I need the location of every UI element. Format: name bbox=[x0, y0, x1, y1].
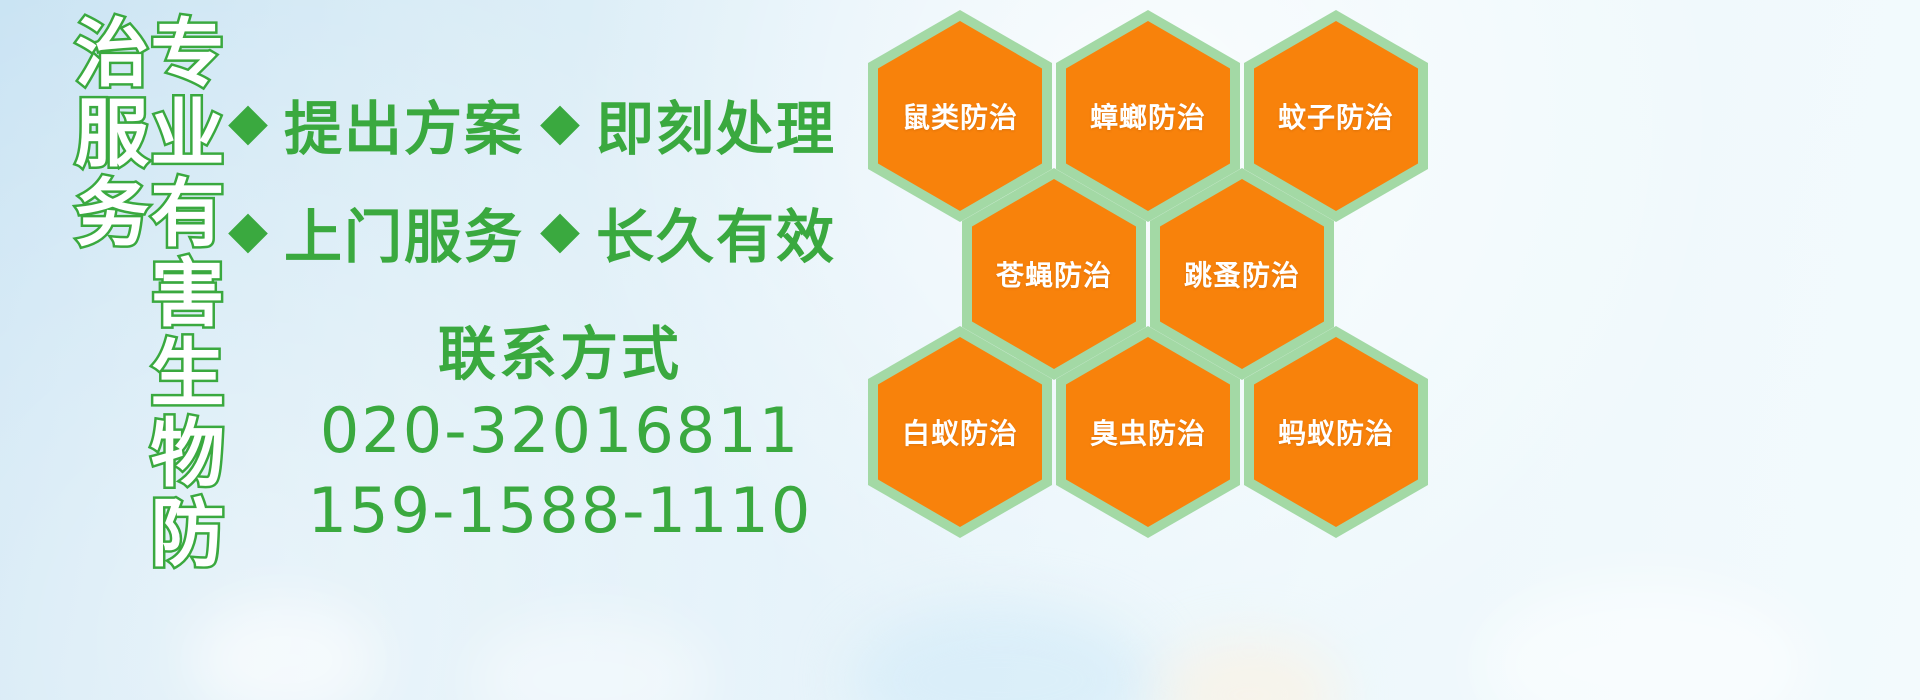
feature-item: ◆ 长久有效 bbox=[540, 190, 836, 274]
background-blob bbox=[1480, 580, 1810, 700]
feature-label: 上门服务 bbox=[284, 190, 524, 274]
background-blob bbox=[190, 600, 380, 700]
feature-item: ◆ 上门服务 bbox=[228, 190, 540, 274]
diamond-bullet-icon: ◆ bbox=[228, 96, 268, 148]
feature-row: ◆ 上门服务 ◆ 长久有效 bbox=[228, 190, 868, 274]
service-honeycomb: 鼠类防治蟑螂防治蚊子防治苍蝇防治跳蚤防治白蚁防治臭虫防治蚂蚁防治 bbox=[856, 0, 1456, 560]
hex-inner: 蚂蚁防治 bbox=[1254, 337, 1418, 527]
hex-inner: 臭虫防治 bbox=[1066, 337, 1230, 527]
hex-label: 鼠类防治 bbox=[902, 96, 1018, 136]
contact-phone-landline[interactable]: 020-32016811 bbox=[300, 391, 820, 472]
feature-label: 即刻处理 bbox=[596, 82, 836, 166]
background-blob bbox=[850, 605, 1150, 700]
diamond-bullet-icon: ◆ bbox=[228, 204, 268, 256]
diamond-bullet-icon: ◆ bbox=[540, 204, 580, 256]
hex-inner: 跳蚤防治 bbox=[1160, 179, 1324, 369]
background-blob bbox=[1160, 640, 1340, 700]
hex-inner: 白蚁防治 bbox=[878, 337, 1042, 527]
feature-item: ◆ 提出方案 bbox=[228, 82, 540, 166]
hex-inner: 鼠类防治 bbox=[878, 21, 1042, 211]
hex-label: 苍蝇防治 bbox=[996, 254, 1112, 294]
feature-list: ◆ 提出方案 ◆ 即刻处理 ◆ 上门服务 ◆ 长久有效 bbox=[228, 82, 868, 298]
contact-phone-mobile[interactable]: 159-1588-1110 bbox=[300, 471, 820, 552]
feature-row: ◆ 提出方案 ◆ 即刻处理 bbox=[228, 82, 868, 166]
hex-label: 蚂蚁防治 bbox=[1278, 412, 1394, 452]
pest-control-banner: 专业有害生物防治服务 ◆ 提出方案 ◆ 即刻处理 ◆ 上门服务 ◆ 长久有效 bbox=[0, 0, 1920, 700]
contact-block: 联系方式 020-32016811 159-1588-1110 bbox=[300, 318, 820, 552]
contact-title: 联系方式 bbox=[300, 318, 820, 391]
hex-label: 白蚁防治 bbox=[902, 412, 1018, 452]
hex-label: 臭虫防治 bbox=[1090, 412, 1206, 452]
feature-label: 长久有效 bbox=[596, 190, 836, 274]
hex-label: 蚊子防治 bbox=[1278, 96, 1394, 136]
hex-label: 蟑螂防治 bbox=[1090, 96, 1206, 136]
hex-inner: 蚊子防治 bbox=[1254, 21, 1418, 211]
hex-inner: 蟑螂防治 bbox=[1066, 21, 1230, 211]
feature-label: 提出方案 bbox=[284, 82, 524, 166]
hex-inner: 苍蝇防治 bbox=[972, 179, 1136, 369]
feature-item: ◆ 即刻处理 bbox=[540, 82, 836, 166]
hex-label: 跳蚤防治 bbox=[1184, 254, 1300, 294]
background-blob bbox=[470, 615, 710, 700]
diamond-bullet-icon: ◆ bbox=[540, 96, 580, 148]
vertical-headline: 专业有害生物防治服务 bbox=[108, 14, 218, 584]
